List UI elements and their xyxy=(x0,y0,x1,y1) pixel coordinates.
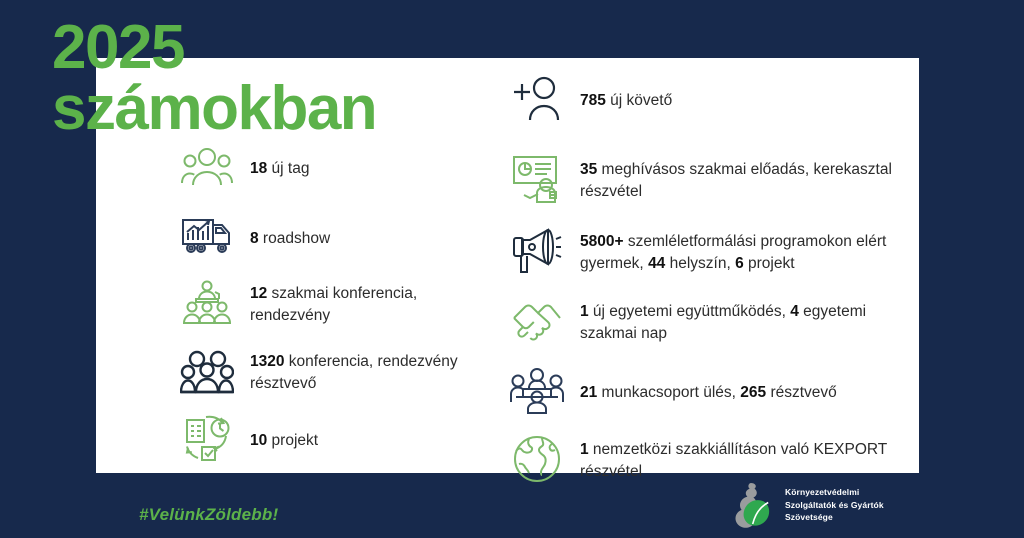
stat-number: 785 xyxy=(580,92,606,109)
stat-text: 12 szakmai konferencia, rendezvény xyxy=(238,283,496,327)
org-name-line-3: Szövetsége xyxy=(785,511,884,524)
stat-item-projects: 10 projekt xyxy=(176,410,496,468)
stat-item-international-exhibition: 1 nemzetközi szakkiállításon való KEXPOR… xyxy=(506,430,916,488)
hashtag-slogan: #VelünkZöldebb! xyxy=(139,505,278,525)
stat-item-participants: 1320 konferencia, rendezvény résztvevő xyxy=(176,344,496,402)
stat-label: új tag xyxy=(267,160,309,177)
stat-text: 1 új egyetemi együttműködés, 4 egyetemi … xyxy=(568,298,916,345)
add-follower-icon xyxy=(506,70,568,128)
stat-item-new-members: 18 új tag xyxy=(176,138,496,196)
project-cycle-icon xyxy=(176,410,238,468)
stat-label-2: helyszín, xyxy=(665,255,735,272)
stat-number: 5800+ xyxy=(580,233,624,250)
stat-number: 35 xyxy=(580,161,597,178)
stat-number: 8 xyxy=(250,230,259,247)
stat-label-3: projekt xyxy=(744,255,795,272)
stat-text: 5800+ szemléletformálási programokon elé… xyxy=(568,228,916,275)
stat-text: 18 új tag xyxy=(238,155,496,180)
stat-text: 35 meghívásos szakmai előadás, kerekaszt… xyxy=(568,156,916,203)
stat-number: 18 xyxy=(250,160,267,177)
stat-text: 10 projekt xyxy=(238,427,496,452)
stat-number: 1320 xyxy=(250,353,284,370)
stat-item-roadshow: 8 roadshow xyxy=(176,208,496,266)
organization-logo: Környezetvédelmi Szolgáltatók és Gyártók… xyxy=(724,481,884,529)
stat-number: 21 xyxy=(580,384,597,401)
megaphone-icon xyxy=(506,222,568,280)
stat-text: 8 roadshow xyxy=(238,225,496,250)
stat-item-university-cooperation: 1 új egyetemi együttműködés, 4 egyetemi … xyxy=(506,292,916,350)
stat-number: 12 xyxy=(250,285,267,302)
stat-text: 785 új követő xyxy=(568,87,916,112)
stat-label: projekt xyxy=(267,432,318,449)
stat-label: meghívásos szakmai előadás, kerekasztal … xyxy=(580,161,892,200)
org-name-line-1: Környezetvédelmi xyxy=(785,486,884,499)
stat-text: 1 nemzetközi szakkiállításon való KEXPOR… xyxy=(568,436,916,483)
org-name-line-2: Szolgáltatók és Gyártók xyxy=(785,499,884,512)
stat-number-2: 44 xyxy=(648,255,665,272)
stats-column-right: 785 új követő 35 meghívásos szakmai xyxy=(506,70,916,496)
stat-label: roadshow xyxy=(259,230,331,247)
stat-number-3: 6 xyxy=(735,255,744,272)
stats-column-left: 18 új tag 8 roadshow xyxy=(176,138,496,476)
stat-number: 1 xyxy=(580,441,589,458)
stat-item-working-group-meetings: 21 munkacsoport ülés, 265 résztvevő xyxy=(506,362,916,420)
stat-label: szakmai konferencia, rendezvény xyxy=(250,285,417,324)
title-line-year: 2025 xyxy=(52,18,376,79)
meeting-table-icon xyxy=(506,362,568,420)
page-title: 2025 számokban xyxy=(52,18,376,140)
stat-text: 21 munkacsoport ülés, 265 résztvevő xyxy=(568,379,916,404)
shell-leaf-logo-icon xyxy=(724,481,778,529)
stat-label: új követő xyxy=(606,92,672,109)
conference-speaker-icon xyxy=(176,276,238,334)
stat-item-invited-talks: 35 meghívásos szakmai előadás, kerekaszt… xyxy=(506,150,916,208)
stat-number: 10 xyxy=(250,432,267,449)
audience-crowd-icon xyxy=(176,344,238,402)
stat-text: 1320 konferencia, rendezvény résztvevő xyxy=(238,351,496,395)
stat-label-2: résztvevő xyxy=(766,384,837,401)
stat-item-awareness-programs: 5800+ szemléletformálási programokon elé… xyxy=(506,222,916,280)
stat-number-2: 265 xyxy=(740,384,766,401)
stat-label: nemzetközi szakkiállításon való KEXPORT … xyxy=(580,441,887,480)
stat-label: munkacsoport ülés, xyxy=(597,384,740,401)
stat-label: új egyetemi együttműködés, xyxy=(589,303,791,320)
truck-chart-icon xyxy=(176,208,238,266)
people-group-icon xyxy=(176,138,238,196)
organization-name: Környezetvédelmi Szolgáltatók és Gyártók… xyxy=(778,486,884,524)
infographic-root: 2025 számokban 18 új tag xyxy=(0,0,1024,538)
stat-item-new-followers: 785 új követő xyxy=(506,70,916,128)
title-line-subject: számokban xyxy=(52,79,376,140)
globe-icon xyxy=(506,430,568,488)
stat-number-2: 4 xyxy=(790,303,799,320)
stat-number: 1 xyxy=(580,303,589,320)
stat-item-conferences: 12 szakmai konferencia, rendezvény xyxy=(176,276,496,334)
handshake-icon xyxy=(506,292,568,350)
presentation-speaker-icon xyxy=(506,150,568,208)
